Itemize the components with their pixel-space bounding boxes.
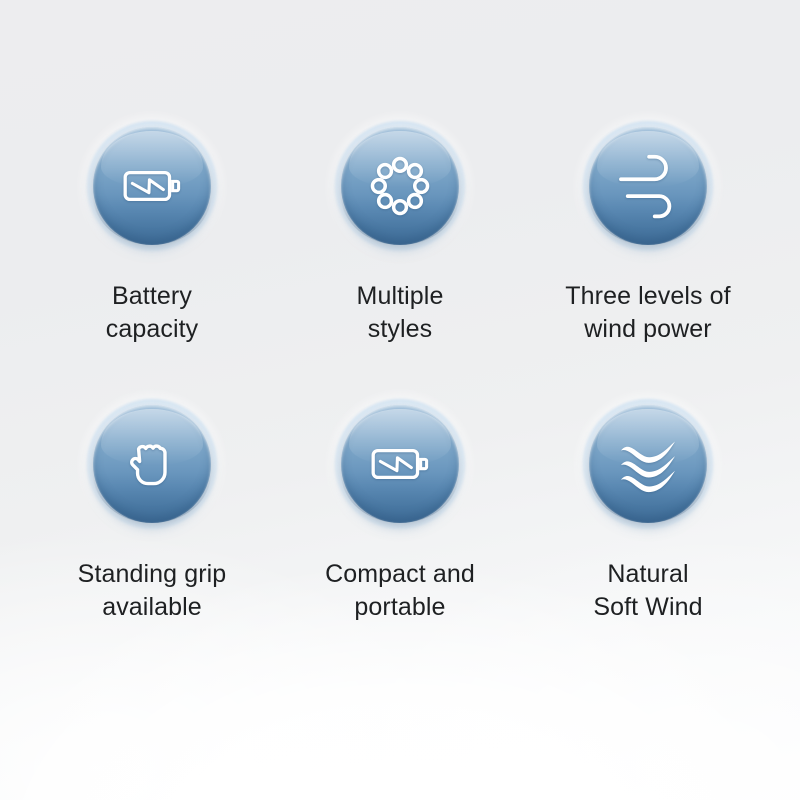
feature-icon-badge [574,390,722,538]
feature-label: Three levels of wind power [565,280,730,346]
feature-label: Standing grip available [78,558,227,624]
grip-hand-icon [119,431,185,497]
feature-card-compact-and-portable[interactable]: Compact and portable [276,390,524,668]
orb-background [589,127,707,245]
wind-icon [612,150,684,222]
feature-icon-badge [78,390,226,538]
feature-card-standing-grip-available[interactable]: Standing grip available [28,390,276,668]
feature-label: Battery capacity [106,280,199,346]
orb-background [341,405,459,523]
soft-wave-icon [612,428,684,500]
orb-background [341,127,459,245]
orb-background [93,405,211,523]
feature-grid: Battery capacity [0,0,800,800]
feature-label: Compact and portable [325,558,475,624]
feature-card-natural-soft-wind[interactable]: Natural Soft Wind [524,390,772,668]
feature-board: Battery capacity [0,0,800,800]
battery-icon [119,153,185,219]
orb-background [589,405,707,523]
circle-ring-pattern-icon [367,153,433,219]
orb-background [93,127,211,245]
feature-card-battery-capacity[interactable]: Battery capacity [28,112,276,390]
feature-card-multiple-styles[interactable]: Multiple styles [276,112,524,390]
feature-label: Natural Soft Wind [593,558,702,624]
feature-icon-badge [78,112,226,260]
feature-label: Multiple styles [357,280,444,346]
battery-icon [367,431,433,497]
feature-icon-badge [326,390,474,538]
feature-icon-badge [574,112,722,260]
feature-card-three-levels-wind-power[interactable]: Three levels of wind power [524,112,772,390]
feature-icon-badge [326,112,474,260]
